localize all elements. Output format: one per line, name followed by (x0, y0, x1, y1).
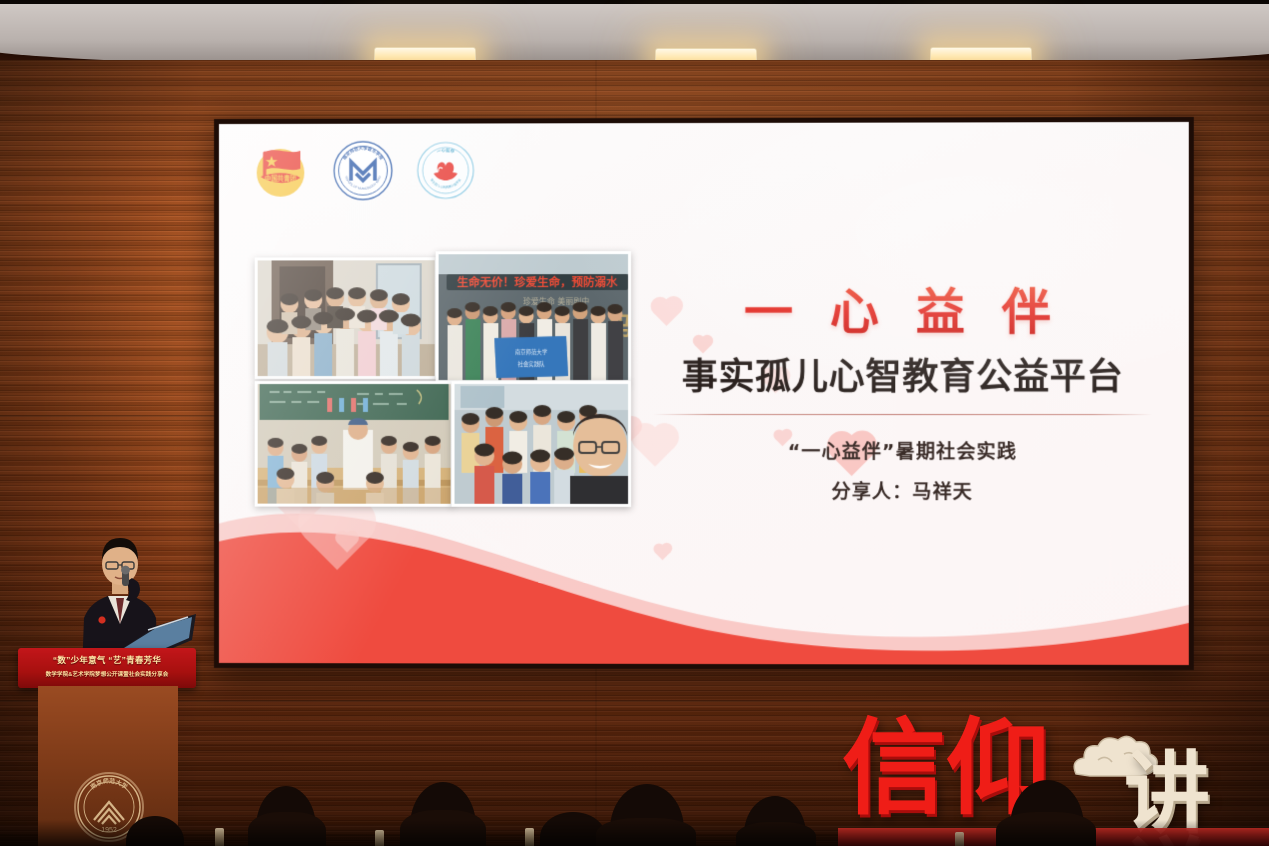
speaking-podium[interactable]: “数”少年意气 “艺”青春芳华 数学学院&艺术学院梦想公开课暨社会实践分享会 南… (18, 648, 196, 846)
classroom-photo-blackboard[interactable] (255, 381, 454, 507)
title-divider (653, 414, 1153, 415)
yixin-yiban-org-seal: 一心益伴 事实孤儿心智教育公益平台 (416, 140, 476, 200)
group-photo-volunteers-banner[interactable]: 生命无价！珍爱生命，预防溺水 珍爱生命 美丽剧中 码 (436, 251, 631, 383)
auditorium-scene: 中国共青团 南京师范大学音乐学院 SCHOOL OF MUSICOLOGY NJ (0, 0, 1269, 846)
slide-text-block: 一 心 益 伴 事实孤儿心智教育公益平台 “一心益伴”暑期社会实践 分享人：马祥… (647, 273, 1159, 505)
slide-subtitle-line1: “一心益伴”暑期社会实践 (647, 437, 1159, 464)
selfie-photo-with-children[interactable] (452, 381, 632, 507)
slide-presenter-line: 分享人：马祥天 (647, 477, 1159, 504)
group-photo-children-indoor[interactable] (255, 257, 438, 379)
podium-banner-line1: “数”少年意气 “艺”青春芳华 (18, 654, 196, 666)
school-of-music-njnu-seal: 南京师范大学音乐学院 SCHOOL OF MUSICOLOGY NJNU (332, 140, 394, 202)
summer-practice-photo-collage[interactable]: 生命无价！珍爱生命，预防溺水 珍爱生命 美丽剧中 码 (255, 251, 625, 503)
presentation-slide: 中国共青团 南京师范大学音乐学院 SCHOOL OF MUSICOLOGY NJ (219, 122, 1189, 665)
foreground-shadow (0, 820, 1269, 846)
svg-text:中国共青团: 中国共青团 (265, 174, 297, 183)
communist-youth-league-emblem: 中国共青团 (251, 141, 311, 201)
podium-banner: “数”少年意气 “艺”青春芳华 数学学院&艺术学院梦想公开课暨社会实践分享会 (18, 648, 196, 688)
projection-screen[interactable]: 中国共青团 南京师范大学音乐学院 SCHOOL OF MUSICOLOGY NJ (214, 117, 1194, 670)
slide-title-main: 一 心 益 伴 (647, 273, 1159, 344)
logo-row: 中国共青团 南京师范大学音乐学院 SCHOOL OF MUSICOLOGY NJ (251, 139, 476, 201)
podium-banner-line2: 数学学院&艺术学院梦想公开课暨社会实践分享会 (18, 670, 196, 678)
slide-title-sub: 事实孤儿心智教育公益平台 (647, 348, 1159, 400)
